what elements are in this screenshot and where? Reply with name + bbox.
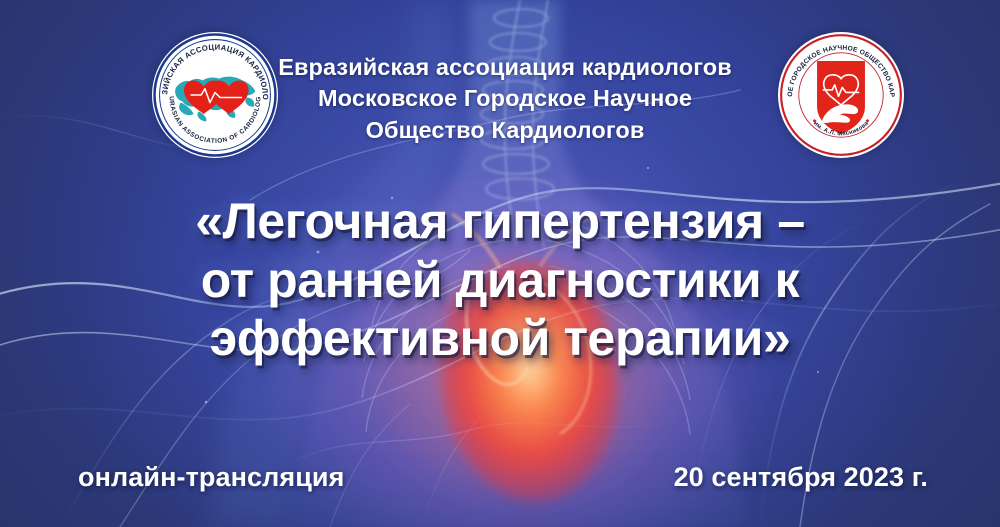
conference-poster: ЕВРАЗИЙСКАЯ АССОЦИАЦИЯ КАРДИОЛОГОВ EURAS… (0, 0, 1000, 527)
logo-moscow-city-scientific-society: МОСКОВСКОЕ ГОРОДСКОЕ НАУЧНОЕ ОБЩЕСТВО КА… (778, 32, 904, 158)
event-title-line-3: эффективной терапии» (0, 309, 1000, 368)
organizer-line-2: Московское Городское Научное (275, 83, 735, 114)
organizer-line-1: Евразийская ассоциация кардиологов (275, 52, 735, 83)
logo-eurasian-association-of-cardiology: ЕВРАЗИЙСКАЯ АССОЦИАЦИЯ КАРДИОЛОГОВ EURAS… (152, 32, 278, 158)
eurasian-association-logo-icon: ЕВРАЗИЙСКАЯ АССОЦИАЦИЯ КАРДИОЛОГОВ EURAS… (152, 32, 278, 158)
broadcast-label: онлайн-трансляция (78, 462, 344, 493)
event-title: «Легочная гипертензия – от ранней диагно… (0, 192, 1000, 368)
event-title-line-2: от ранней диагностики к (0, 251, 1000, 310)
organizers-heading: Евразийская ассоциация кардиологов Моско… (275, 52, 735, 146)
event-title-line-1: «Легочная гипертензия – (0, 192, 1000, 251)
event-date: 20 сентября 2023 г. (674, 462, 928, 493)
moscow-society-logo-icon: МОСКОВСКОЕ ГОРОДСКОЕ НАУЧНОЕ ОБЩЕСТВО КА… (778, 32, 904, 158)
organizer-line-3: Общество Кардиологов (275, 115, 735, 146)
red-shield-shape (817, 61, 865, 134)
